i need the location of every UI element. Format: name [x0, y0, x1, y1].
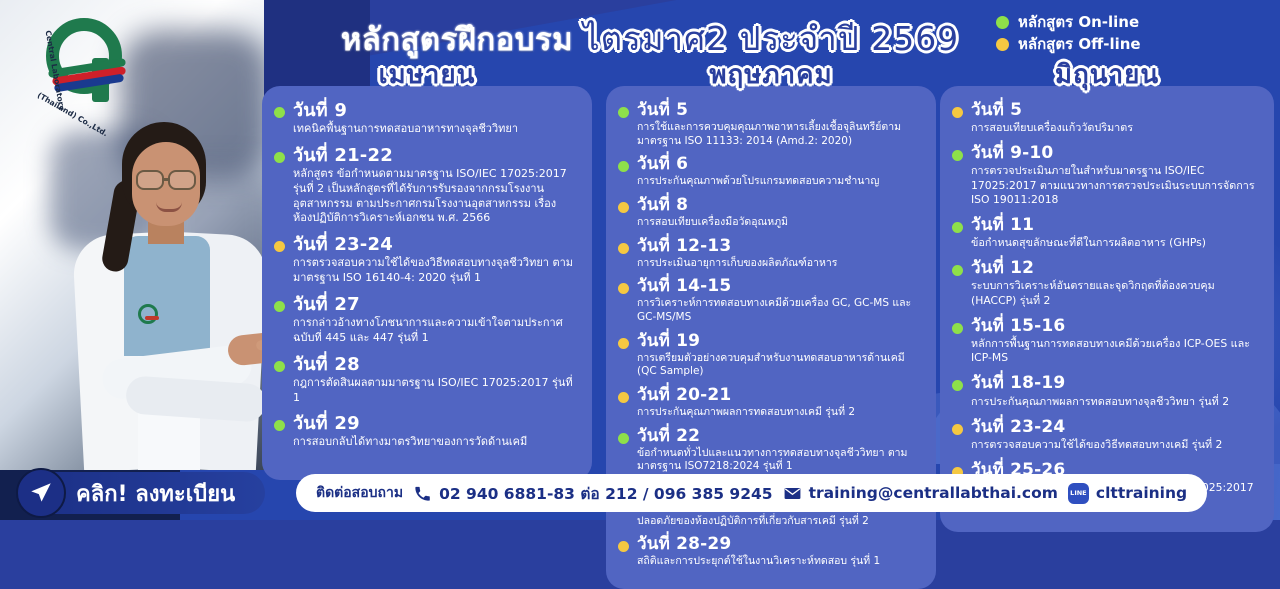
event-item[interactable]: วันที่ 8การสอบเทียบเครื่องมือวัดอุณหภูมิ [618, 195, 922, 234]
event-description: การประกันคุณภาพด้วยโปรแกรมทดสอบความชำนาญ [637, 175, 922, 189]
offline-dot-icon [618, 392, 629, 403]
event-description: การตรวจสอบความใช้ได้ของวิธีทดสอบทางจุลชี… [293, 256, 578, 285]
register-label: คลิก! ลงทะเบียน [76, 476, 235, 511]
phone-icon [413, 484, 432, 503]
event-body: วันที่ 12ระบบการวิเคราะห์อันตรายและจุดวิ… [971, 258, 1260, 314]
event-body: วันที่ 9เทคนิคพื้นฐานการทดสอบอาหารทางจุล… [293, 100, 578, 143]
event-body: วันที่ 5การสอบเทียบเครื่องแก้ววัดปริมาตร [971, 100, 1260, 141]
event-description: เทคนิคพื้นฐานการทดสอบอาหารทางจุลชีววิทยา [293, 122, 578, 137]
event-description: การกล่าวอ้างทางโภชนาการและความเข้าใจตามป… [293, 316, 578, 345]
event-date: วันที่ 27 [293, 294, 578, 315]
email-value: training@centrallabthai.com [809, 484, 1058, 502]
event-description: การประกันคุณภาพผลการทดสอบทางจุลชีววิทยา … [971, 395, 1260, 409]
event-description: สถิติและการประยุกต์ใช้ในงานวิเคราะห์ทดสอ… [637, 555, 922, 569]
online-dot-icon [952, 380, 963, 391]
event-date: วันที่ 14-15 [637, 276, 922, 296]
event-date: วันที่ 28-29 [637, 534, 922, 554]
event-body: วันที่ 9-10การตรวจประเมินภายในสำหรับมาตร… [971, 143, 1260, 213]
event-date: วันที่ 22 [637, 426, 922, 446]
event-date: วันที่ 28 [293, 354, 578, 375]
event-item[interactable]: วันที่ 20-21การประกันคุณภาพผลการทดสอบทาง… [618, 385, 922, 424]
contact-bar: ติดต่อสอบถาม 02 940 6881-83 ต่อ 212 / 09… [296, 474, 1207, 512]
event-date: วันที่ 9-10 [971, 143, 1260, 163]
event-body: วันที่ 23-24การตรวจสอบความใช้ได้ของวิธีท… [971, 417, 1260, 458]
register-button[interactable]: คลิก! ลงทะเบียน [20, 472, 265, 514]
event-item[interactable]: วันที่ 27การกล่าวอ้างทางโภชนาการและความเ… [274, 294, 578, 352]
event-body: วันที่ 19การเตรียมตัวอย่างควบคุมสำหรับงา… [637, 331, 922, 383]
month-title-june: มิถุนายน [940, 58, 1274, 92]
event-description: การประกันคุณภาพผลการทดสอบทางเคมี รุ่นที่… [637, 406, 922, 420]
event-item[interactable]: วันที่ 23-24การตรวจสอบความใช้ได้ของวิธีท… [952, 417, 1260, 458]
event-item[interactable]: วันที่ 12ระบบการวิเคราะห์อันตรายและจุดวิ… [952, 258, 1260, 314]
offline-dot-icon [274, 241, 285, 252]
online-dot-icon [952, 265, 963, 276]
event-date: วันที่ 23-24 [971, 417, 1260, 437]
online-dot-icon [952, 222, 963, 233]
event-item[interactable]: วันที่ 18-19การประกันคุณภาพผลการทดสอบทาง… [952, 373, 1260, 414]
event-date: วันที่ 12-13 [637, 236, 922, 256]
event-date: วันที่ 19 [637, 331, 922, 351]
offline-dot-icon [618, 338, 629, 349]
online-dot-icon [618, 433, 629, 444]
month-columns: เมษายน วันที่ 9เทคนิคพื้นฐานการทดสอบอาหา… [0, 0, 1280, 470]
event-item[interactable]: วันที่ 6การประกันคุณภาพด้วยโปรแกรมทดสอบค… [618, 154, 922, 193]
online-dot-icon [274, 420, 285, 431]
event-body: วันที่ 29การสอบกลับได้ทางมาตรวิทยาของการ… [293, 413, 578, 456]
event-body: วันที่ 5การใช้และการควบคุมคุณภาพอาหารเลี… [637, 100, 922, 152]
event-date: วันที่ 20-21 [637, 385, 922, 405]
mail-icon [783, 484, 802, 503]
event-item[interactable]: วันที่ 9-10การตรวจประเมินภายในสำหรับมาตร… [952, 143, 1260, 213]
offline-dot-icon [618, 243, 629, 254]
event-body: วันที่ 28กฎการตัดสินผลตามมาตรฐาน ISO/IEC… [293, 354, 578, 412]
contact-line[interactable]: LINE clttraining [1068, 483, 1187, 504]
phone-value: 02 940 6881-83 ต่อ 212 / 096 385 9245 [439, 481, 772, 506]
event-description: ระบบการวิเคราะห์อันตรายและจุดวิกฤตที่ต้อ… [971, 279, 1260, 308]
event-date: วันที่ 11 [971, 215, 1260, 235]
event-date: วันที่ 5 [971, 100, 1260, 120]
event-date: วันที่ 12 [971, 258, 1260, 278]
event-description: หลักการพื้นฐานการทดสอบทางเคมีด้วยเครื่อง… [971, 337, 1260, 366]
offline-dot-icon [618, 283, 629, 294]
online-dot-icon [952, 323, 963, 334]
event-item[interactable]: วันที่ 21-22หลักสูตร ข้อกำหนดตามมาตรฐาน … [274, 145, 578, 232]
online-dot-icon [274, 361, 285, 372]
event-body: วันที่ 11ข้อกำหนดสุขลักษณะที่ดีในการผลิต… [971, 215, 1260, 256]
offline-dot-icon [952, 107, 963, 118]
event-body: วันที่ 15-16หลักการพื้นฐานการทดสอบทางเคม… [971, 316, 1260, 372]
event-body: วันที่ 12-13การประเมินอายุการเก็บของผลิต… [637, 236, 922, 275]
event-description: การสอบกลับได้ทางมาตรวิทยาของการวัดด้านเค… [293, 435, 578, 450]
event-date: วันที่ 8 [637, 195, 922, 215]
event-item[interactable]: วันที่ 28กฎการตัดสินผลตามมาตรฐาน ISO/IEC… [274, 354, 578, 412]
event-description: การสอบเทียบเครื่องแก้ววัดปริมาตร [971, 121, 1260, 135]
event-body: วันที่ 8การสอบเทียบเครื่องมือวัดอุณหภูมิ [637, 195, 922, 234]
event-item[interactable]: วันที่ 11ข้อกำหนดสุขลักษณะที่ดีในการผลิต… [952, 215, 1260, 256]
event-description: การใช้และการควบคุมคุณภาพอาหารเลี้ยงเชื้อ… [637, 121, 922, 148]
event-item[interactable]: วันที่ 28-29สถิติและการประยุกต์ใช้ในงานว… [618, 534, 922, 573]
month-title-april: เมษายน [262, 58, 592, 92]
month-column-april: เมษายน วันที่ 9เทคนิคพื้นฐานการทดสอบอาหา… [262, 58, 592, 480]
send-icon [16, 468, 66, 518]
online-dot-icon [274, 301, 285, 312]
event-date: วันที่ 15-16 [971, 316, 1260, 336]
offline-dot-icon [618, 202, 629, 213]
event-body: วันที่ 23-24การตรวจสอบความใช้ได้ของวิธีท… [293, 234, 578, 292]
contact-email[interactable]: training@centrallabthai.com [783, 484, 1058, 503]
event-body: วันที่ 21-22หลักสูตร ข้อกำหนดตามมาตรฐาน … [293, 145, 578, 232]
line-icon: LINE [1068, 483, 1089, 504]
month-title-may: พฤษภาคม [606, 58, 936, 92]
event-description: กฎการตัดสินผลตามมาตรฐาน ISO/IEC 17025:20… [293, 376, 578, 405]
month-column-june: มิถุนายน วันที่ 5การสอบเทียบเครื่องแก้วว… [940, 58, 1274, 532]
event-item[interactable]: วันที่ 5การใช้และการควบคุมคุณภาพอาหารเลี… [618, 100, 922, 152]
event-date: วันที่ 23-24 [293, 234, 578, 255]
event-date: วันที่ 6 [637, 154, 922, 174]
event-date: วันที่ 21-22 [293, 145, 578, 166]
event-date: วันที่ 9 [293, 100, 578, 121]
footer-bar: คลิก! ลงทะเบียน ติดต่อสอบถาม 02 940 6881… [0, 464, 1280, 520]
event-body: วันที่ 20-21การประกันคุณภาพผลการทดสอบทาง… [637, 385, 922, 424]
event-item[interactable]: วันที่ 15-16หลักการพื้นฐานการทดสอบทางเคม… [952, 316, 1260, 372]
event-date: วันที่ 29 [293, 413, 578, 434]
online-dot-icon [618, 107, 629, 118]
contact-label: ติดต่อสอบถาม [316, 482, 403, 504]
event-date: วันที่ 5 [637, 100, 922, 120]
event-description: การตรวจประเมินภายในสำหรับมาตรฐาน ISO/IEC… [971, 164, 1260, 207]
event-body: วันที่ 28-29สถิติและการประยุกต์ใช้ในงานว… [637, 534, 922, 573]
offline-dot-icon [952, 424, 963, 435]
online-dot-icon [952, 150, 963, 161]
event-description: การประเมินอายุการเก็บของผลิตภัณฑ์อาหาร [637, 257, 922, 271]
event-item[interactable]: วันที่ 12-13การประเมินอายุการเก็บของผลิต… [618, 236, 922, 275]
month-card-april: วันที่ 9เทคนิคพื้นฐานการทดสอบอาหารทางจุล… [262, 86, 592, 480]
offline-dot-icon [618, 541, 629, 552]
online-dot-icon [274, 107, 285, 118]
event-body: วันที่ 18-19การประกันคุณภาพผลการทดสอบทาง… [971, 373, 1260, 414]
online-dot-icon [618, 161, 629, 172]
event-body: วันที่ 6การประกันคุณภาพด้วยโปรแกรมทดสอบค… [637, 154, 922, 193]
event-description: ข้อกำหนดสุขลักษณะที่ดีในการผลิตอาหาร (GH… [971, 236, 1260, 250]
event-description: การวิเคราะห์การทดสอบทางเคมีด้วยเครื่อง G… [637, 297, 922, 324]
online-dot-icon [274, 152, 285, 163]
event-description: หลักสูตร ข้อกำหนดตามมาตรฐาน ISO/IEC 1702… [293, 167, 578, 226]
event-description: การตรวจสอบความใช้ได้ของวิธีทดสอบทางเคมี … [971, 438, 1260, 452]
event-item[interactable]: วันที่ 29การสอบกลับได้ทางมาตรวิทยาของการ… [274, 413, 578, 456]
event-item[interactable]: วันที่ 9เทคนิคพื้นฐานการทดสอบอาหารทางจุล… [274, 100, 578, 143]
event-item[interactable]: วันที่ 23-24การตรวจสอบความใช้ได้ของวิธีท… [274, 234, 578, 292]
event-item[interactable]: วันที่ 19การเตรียมตัวอย่างควบคุมสำหรับงา… [618, 331, 922, 383]
event-description: การเตรียมตัวอย่างควบคุมสำหรับงานทดสอบอาห… [637, 352, 922, 379]
event-date: วันที่ 18-19 [971, 373, 1260, 393]
contact-phone[interactable]: 02 940 6881-83 ต่อ 212 / 096 385 9245 [413, 481, 772, 506]
event-item[interactable]: วันที่ 5การสอบเทียบเครื่องแก้ววัดปริมาตร [952, 100, 1260, 141]
event-body: วันที่ 27การกล่าวอ้างทางโภชนาการและความเ… [293, 294, 578, 352]
event-body: วันที่ 14-15การวิเคราะห์การทดสอบทางเคมีด… [637, 276, 922, 328]
event-item[interactable]: วันที่ 14-15การวิเคราะห์การทดสอบทางเคมีด… [618, 276, 922, 328]
event-description: การสอบเทียบเครื่องมือวัดอุณหภูมิ [637, 216, 922, 230]
line-value: clttraining [1096, 484, 1187, 502]
